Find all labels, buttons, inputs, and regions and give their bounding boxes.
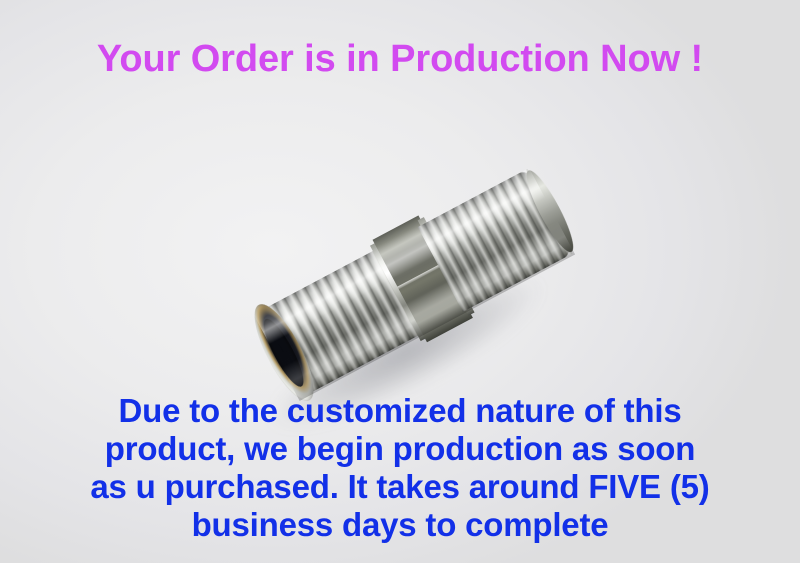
body-text-block: Due to the customized nature of this pro… <box>0 392 800 544</box>
headline-text: Your Order is in Production Now ! <box>0 38 800 82</box>
body-line-1: Due to the customized nature of this <box>0 392 800 430</box>
body-line-2: product, we begin production as soon <box>0 430 800 468</box>
product-photo-hex-nipple <box>248 168 578 400</box>
body-line-3: as u purchased. It takes around FIVE (5) <box>0 468 800 506</box>
body-line-4: business days to complete <box>0 506 800 544</box>
promotional-image: Your Order is in Production Now ! Due to… <box>0 0 800 563</box>
